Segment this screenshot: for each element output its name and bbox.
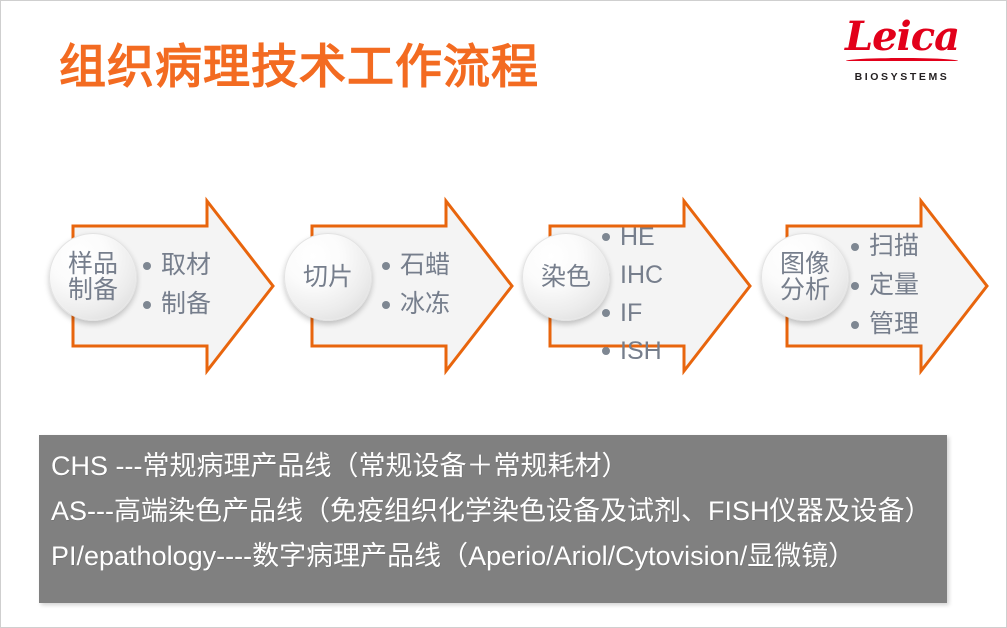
bullet-label: 管理 — [869, 312, 919, 337]
bullet-dot-icon — [143, 262, 151, 270]
stage-circle-line: 制备 — [68, 277, 118, 304]
stage-circle-line: 切片 — [303, 264, 353, 291]
bullet-label: HE — [620, 225, 655, 250]
flow-stage-staining[interactable]: HE IHC IF ISH 染色 — [544, 191, 754, 381]
bullet-label: 扫描 — [869, 234, 919, 259]
legend-line-pi-epathology: PI/epathology----数字病理产品线（Aperio/Ariol/Cy… — [51, 543, 947, 588]
bullet-dot-icon — [602, 309, 610, 317]
stage-circle-line: 染色 — [541, 264, 591, 291]
bullet-label: 定量 — [869, 273, 919, 298]
stage-circle-staining[interactable]: 染色 — [522, 233, 610, 321]
bullet-dot-icon — [143, 301, 151, 309]
bullet-label: 冰冻 — [400, 292, 450, 317]
stage-bullet-list: 石蜡 冰冻 — [382, 246, 450, 324]
logo-subtitle: BIOSYSTEMS — [840, 71, 964, 83]
bullet-dot-icon — [851, 321, 859, 329]
bullet-label: 制备 — [161, 292, 211, 317]
stage-circle-line: 样品 — [68, 251, 118, 278]
product-line-legend-panel: CHS ---常规病理产品线（常规设备＋常规耗材） AS---高端染色产品线（免… — [39, 435, 947, 603]
process-flow-diagram: 取材 制备 样品 制备 石蜡 — [1, 191, 1007, 381]
bullet-dot-icon — [382, 301, 390, 309]
page-title: 组织病理技术工作流程 — [59, 39, 539, 95]
stage-circle-image-analysis[interactable]: 图像 分析 — [761, 233, 849, 321]
bullet-label: 石蜡 — [400, 253, 450, 278]
bullet-dot-icon — [382, 262, 390, 270]
bullet-dot-icon — [602, 347, 610, 355]
legend-line-chs: CHS ---常规病理产品线（常规设备＋常规耗材） — [51, 453, 947, 498]
bullet-label: IF — [620, 301, 642, 326]
slide-canvas: 组织病理技术工作流程 Leica BIOSYSTEMS 取材 制备 — [0, 0, 1007, 628]
stage-circle-line: 分析 — [780, 277, 830, 304]
stage-bullet-list: HE IHC IF ISH — [602, 218, 663, 370]
logo-wordmark: Leica — [840, 17, 964, 58]
bullet-dot-icon — [851, 282, 859, 290]
bullet-label: IHC — [620, 263, 663, 288]
stage-circle-sample-preparation[interactable]: 样品 制备 — [49, 233, 137, 321]
bullet-dot-icon — [602, 233, 610, 241]
flow-stage-sample-preparation[interactable]: 取材 制备 样品 制备 — [67, 191, 277, 381]
stage-bullet-list: 取材 制备 — [143, 246, 211, 324]
flow-stage-image-analysis[interactable]: 扫描 定量 管理 图像 分析 — [781, 191, 991, 381]
flow-stage-sectioning[interactable]: 石蜡 冰冻 切片 — [306, 191, 516, 381]
bullet-label: ISH — [620, 339, 662, 364]
bullet-label: 取材 — [161, 253, 211, 278]
leica-biosystems-logo: Leica BIOSYSTEMS — [840, 17, 964, 83]
bullet-dot-icon — [851, 243, 859, 251]
stage-circle-sectioning[interactable]: 切片 — [284, 233, 372, 321]
stage-bullet-list: 扫描 定量 管理 — [851, 227, 919, 344]
legend-line-as: AS---高端染色产品线（免疫组织化学染色设备及试剂、FISH仪器及设备） — [51, 498, 947, 543]
stage-circle-line: 图像 — [780, 251, 830, 278]
